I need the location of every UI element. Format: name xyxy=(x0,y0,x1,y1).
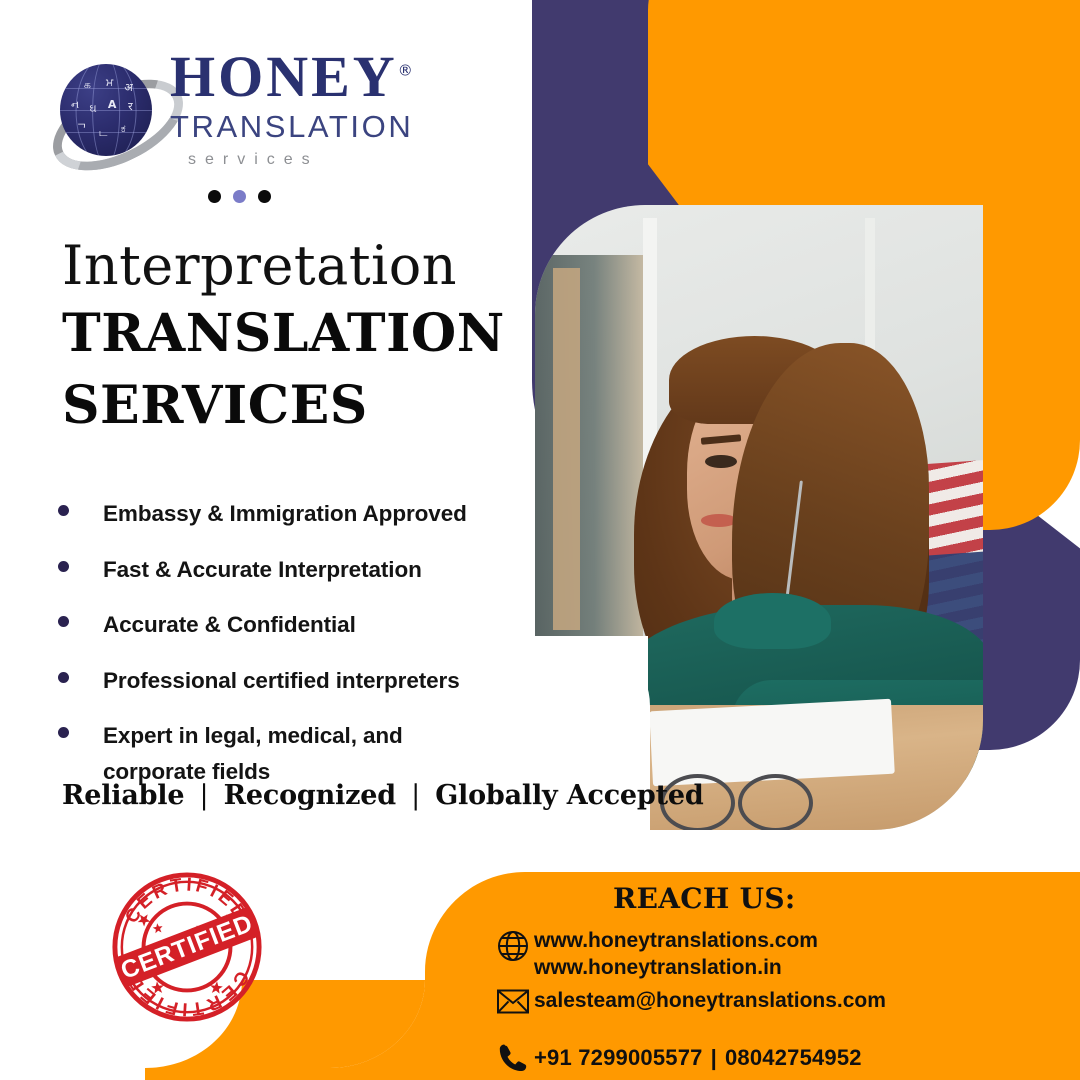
list-item: Expert in legal, medical, and corporate … xyxy=(52,718,522,789)
globe-glyph: अ xyxy=(124,82,132,93)
globe-glyph: க xyxy=(84,79,91,90)
list-item-label: Accurate & Confidential xyxy=(103,607,356,643)
company-logo: க ਮ अ ન ઘ A र ᄀ ட ಕ HONEY® TRANSLATION s… xyxy=(52,48,452,178)
poster-canvas: க ਮ अ ન ઘ A र ᄀ ட ಕ HONEY® TRANSLATION s… xyxy=(0,0,1080,1080)
tagline-part-3: Globally Accepted xyxy=(435,780,703,811)
tagline-part-2: Recognized xyxy=(224,780,396,811)
tagline-separator: | xyxy=(405,780,426,811)
bullet-dot-icon xyxy=(58,616,69,627)
email-link[interactable]: salesteam@honeytranslations.com xyxy=(534,988,886,1015)
globe-glyph: ਮ xyxy=(106,77,113,88)
phone-number-2[interactable]: 08042754952 xyxy=(725,1045,862,1070)
decorative-dots xyxy=(208,190,271,203)
logo-brand-tertiary: services xyxy=(170,151,460,169)
registered-trademark-icon: ® xyxy=(398,62,413,80)
globe-icon: க ਮ अ ન ઘ A र ᄀ ட ಕ xyxy=(52,54,164,166)
phone-numbers[interactable]: +91 7299005577|08042754952 xyxy=(534,1044,862,1072)
dot-2 xyxy=(233,190,246,203)
contact-row-phone: +91 7299005577|08042754952 xyxy=(492,1042,862,1074)
bullet-dot-icon xyxy=(58,672,69,683)
globe-glyph: A xyxy=(108,99,117,110)
logo-brand-primary: HONEY® xyxy=(170,48,413,106)
bullet-dot-icon xyxy=(58,561,69,572)
certified-stamp-graphic: CERTIFIED CERTIFIED CERTIFIED xyxy=(108,868,266,1026)
phone-separator: | xyxy=(703,1045,725,1070)
certified-stamp: CERTIFIED CERTIFIED CERTIFIED xyxy=(108,868,266,1026)
dot-3 xyxy=(258,190,271,203)
contact-heading: REACH US: xyxy=(613,882,796,915)
dot-1 xyxy=(208,190,221,203)
feature-list: Embassy & Immigration Approved Fast & Ac… xyxy=(52,496,522,809)
headline-bold-line-1: TRANSLATION xyxy=(62,301,505,368)
list-item-label: Fast & Accurate Interpretation xyxy=(103,552,422,588)
contact-row-email: salesteam@honeytranslations.com xyxy=(492,988,886,1015)
headline-script: Interpretation xyxy=(62,238,505,295)
list-item: Professional certified interpreters xyxy=(52,663,522,699)
list-item: Embassy & Immigration Approved xyxy=(52,496,522,532)
list-item: Fast & Accurate Interpretation xyxy=(52,552,522,588)
tagline-separator: | xyxy=(194,780,215,811)
phone-icon xyxy=(492,1042,534,1074)
bullet-dot-icon xyxy=(58,727,69,738)
list-item: Accurate & Confidential xyxy=(52,607,522,643)
logo-brand-primary-text: HONEY xyxy=(170,44,398,109)
contact-row-website: www.honeytranslations.com www.honeytrans… xyxy=(492,928,818,982)
globe-glyph: ઘ xyxy=(89,103,96,114)
headline-block: Interpretation TRANSLATION SERVICES xyxy=(62,238,505,440)
list-item-label: Professional certified interpreters xyxy=(103,663,460,699)
list-item-label: Embassy & Immigration Approved xyxy=(103,496,467,532)
envelope-icon xyxy=(492,988,534,1015)
globe-glyph: ᄀ xyxy=(77,123,87,134)
headline-bold-line-2: SERVICES xyxy=(62,373,505,440)
tagline: Reliable | Recognized | Globally Accepte… xyxy=(62,780,704,811)
contact-websites[interactable]: www.honeytranslations.com www.honeytrans… xyxy=(534,928,818,982)
globe-glyph: ન xyxy=(71,99,79,110)
phone-number-1[interactable]: +91 7299005577 xyxy=(534,1045,703,1070)
website-link-1[interactable]: www.honeytranslations.com xyxy=(534,929,818,952)
tagline-part-1: Reliable xyxy=(62,780,184,811)
bullet-dot-icon xyxy=(58,505,69,516)
globe-icon xyxy=(492,928,534,964)
website-link-2[interactable]: www.honeytranslation.in xyxy=(534,956,782,979)
list-item-label: Expert in legal, medical, and corporate … xyxy=(103,718,443,789)
photo-corner-notch-fill xyxy=(520,636,648,696)
globe-glyph: र xyxy=(128,101,133,112)
logo-brand-secondary: TRANSLATION xyxy=(170,108,460,147)
